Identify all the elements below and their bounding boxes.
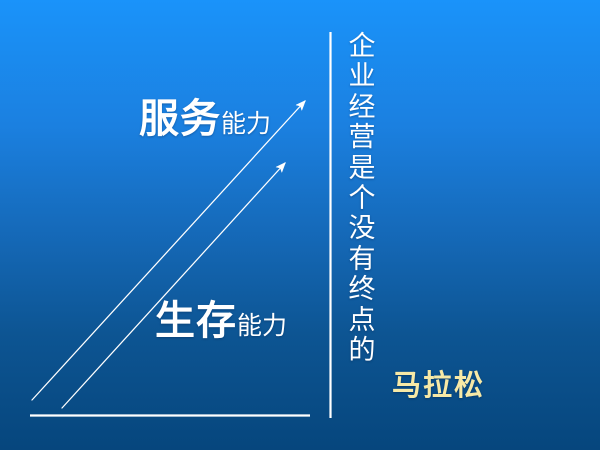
- vertical-phrase-char: 业: [349, 63, 376, 93]
- survival-capability-label: 生存能力: [155, 301, 287, 341]
- diagram-vector-layer: [0, 0, 600, 450]
- survival-capability-suffix-text: 能力: [237, 311, 287, 340]
- vertical-phrase-char: 没: [349, 215, 376, 245]
- service-capability-main-text: 服务: [139, 96, 221, 142]
- vertical-phrase-char: 点: [349, 307, 376, 337]
- vertical-phrase-char: 的: [349, 337, 376, 367]
- vertical-phrase-char: 有: [349, 246, 376, 276]
- survival-capability-main-text: 生存: [155, 298, 237, 344]
- marathon-label: 马拉松: [392, 371, 485, 400]
- service-capability-label: 服务能力: [139, 99, 271, 139]
- vertical-phrase-char: 经: [349, 94, 376, 124]
- vertical-phrase-char: 企: [349, 33, 376, 63]
- slide-canvas: 服务能力 生存能力 企 业 经 营 是 个 没 有 终 点 的 马拉松: [0, 0, 600, 450]
- vertical-phrase-char: 终: [349, 276, 376, 306]
- vertical-phrase-char: 营: [349, 124, 376, 154]
- vertical-phrase-column: 企 业 经 营 是 个 没 有 终 点 的: [345, 33, 379, 367]
- survival-growth-arrow: [62, 163, 285, 408]
- vertical-phrase-char: 个: [349, 185, 376, 215]
- service-growth-arrow: [32, 101, 305, 400]
- vertical-phrase-char: 是: [349, 155, 376, 185]
- service-capability-suffix-text: 能力: [221, 109, 271, 138]
